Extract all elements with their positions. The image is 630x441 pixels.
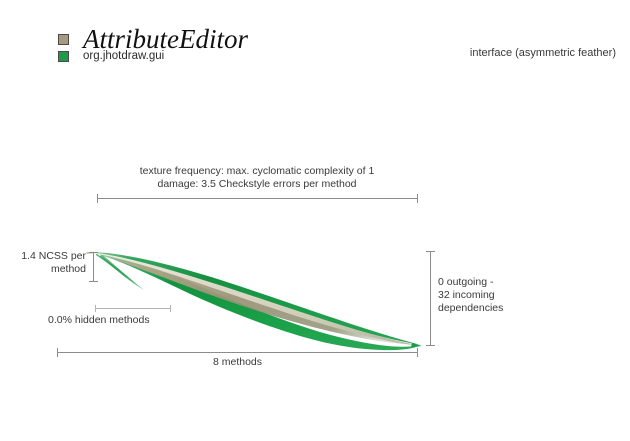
bar-cap-right [417, 194, 418, 203]
dependencies-measure-bar [426, 251, 435, 346]
ncss-measure-bar [89, 252, 98, 282]
bar-line [93, 252, 94, 282]
damage-line: damage: 3.5 Checkstyle errors per method [97, 178, 417, 191]
page-title: AttributeEditor [83, 26, 248, 53]
vane-swatch-icon [58, 51, 69, 62]
bar-line [95, 308, 171, 309]
bar-cap-bottom [426, 345, 435, 346]
bar-cap-right [170, 305, 171, 312]
bar-line [97, 198, 418, 199]
feather-glyph [80, 240, 430, 355]
bar-line [57, 352, 418, 353]
bar-cap-bottom [89, 281, 98, 282]
dependencies-line-1: 0 outgoing - [438, 276, 548, 289]
legend-row-secondary: org.jhotdraw.gui [58, 50, 164, 62]
texture-measure-bar [97, 194, 418, 203]
texture-annotation: texture frequency: max. cyclomatic compl… [97, 165, 417, 191]
bar-line [430, 251, 431, 346]
rachis-swatch-icon [58, 34, 69, 45]
texture-frequency-line: texture frequency: max. cyclomatic compl… [97, 165, 417, 178]
classifier-label: interface (asymmetric feather) [470, 47, 616, 59]
dependencies-label: 0 outgoing - 32 incoming dependencies [438, 276, 548, 315]
legend-row-primary: AttributeEditor [58, 26, 248, 53]
package-label: org.jhotdraw.gui [83, 50, 164, 62]
dependencies-line-3: dependencies [438, 302, 548, 315]
hidden-methods-label: 0.0% hidden methods [48, 314, 150, 327]
hidden-methods-measure-bar [95, 304, 171, 313]
methods-label: 8 methods [57, 356, 418, 369]
ncss-label: 1.4 NCSS per method [8, 250, 86, 276]
feather-diagram-canvas: AttributeEditor org.jhotdraw.gui interfa… [0, 0, 630, 441]
dependencies-line-2: 32 incoming [438, 289, 548, 302]
